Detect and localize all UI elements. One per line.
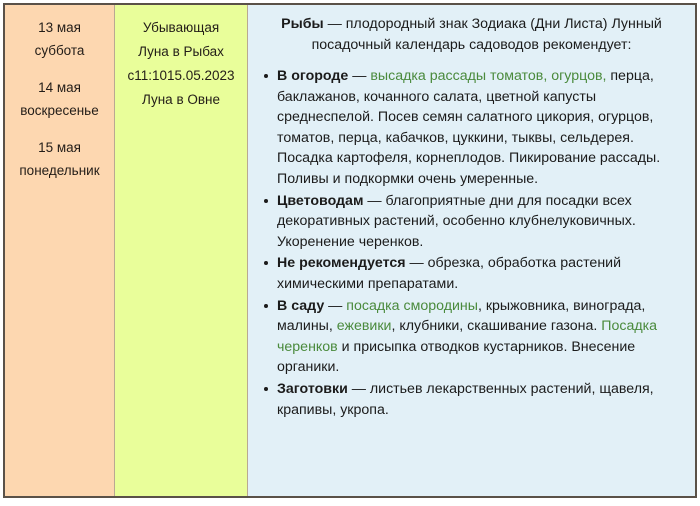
item-term: Заготовки xyxy=(277,381,348,397)
item-highlight-2: ежевики xyxy=(337,318,392,334)
item-dash: — xyxy=(348,381,370,397)
item-dash: — xyxy=(363,193,385,209)
date-weekday: воскресенье xyxy=(5,99,114,122)
list-item: Заготовки — листьев лекарственных растен… xyxy=(260,379,683,420)
date-day: 14 мая xyxy=(5,76,114,99)
list-item: Не рекомендуется — обрезка, обработка ра… xyxy=(260,253,683,294)
item-highlight: посадка смородины xyxy=(346,298,478,314)
date-group: 15 мая понедельник xyxy=(5,136,114,182)
item-dash: — xyxy=(348,68,370,84)
item-term: Не рекомендуется xyxy=(277,255,406,271)
date-day: 13 мая xyxy=(5,16,114,39)
list-item: В саду — посадка смородины, крыжовника, … xyxy=(260,296,683,378)
item-dash: — xyxy=(406,255,428,271)
moon-sign-next: Луна в Овне xyxy=(115,88,247,112)
date-weekday: суббота xyxy=(5,39,114,62)
lunar-calendar-table: 13 мая суббота 14 мая воскресенье 15 мая… xyxy=(3,3,697,498)
list-item: В огороде — высадка рассады томатов, огу… xyxy=(260,66,683,190)
item-highlight: высадка рассады томатов, огурцов, xyxy=(370,68,606,84)
item-dash: — xyxy=(324,298,346,314)
date-group: 13 мая суббота xyxy=(5,16,114,62)
list-item: Цветоводам — благоприятные дни для посад… xyxy=(260,191,683,253)
zodiac-sign-name: Рыбы xyxy=(281,16,323,32)
moon-phase-label: Убывающая xyxy=(115,16,247,40)
moon-phase-column: Убывающая Луна в Рыбах с11:1015.05.2023 … xyxy=(115,5,248,496)
date-day: 15 мая xyxy=(5,136,114,159)
moon-sign-current: Луна в Рыбах xyxy=(115,40,247,64)
recommendations-list: В огороде — высадка рассады томатов, огу… xyxy=(260,66,683,420)
recommendations-heading: Рыбы — плодородный знак Зодиака (Дни Лис… xyxy=(260,14,683,55)
date-group: 14 мая воскресенье xyxy=(5,76,114,122)
heading-description: — плодородный знак Зодиака (Дни Листа) Л… xyxy=(312,16,662,53)
item-term: Цветоводам xyxy=(277,193,363,209)
moon-transition-time: с11:1015.05.2023 xyxy=(115,64,247,88)
item-term: В саду xyxy=(277,298,324,314)
dates-column: 13 мая суббота 14 мая воскресенье 15 мая… xyxy=(5,5,115,496)
item-text: перца, баклажанов, кочанного салата, цве… xyxy=(277,68,660,187)
date-weekday: понедельник xyxy=(5,159,114,182)
recommendations-column: Рыбы — плодородный знак Зодиака (Дни Лис… xyxy=(248,5,695,496)
item-text-2: , клубники, скашивание газона. xyxy=(391,318,601,334)
item-term: В огороде xyxy=(277,68,348,84)
